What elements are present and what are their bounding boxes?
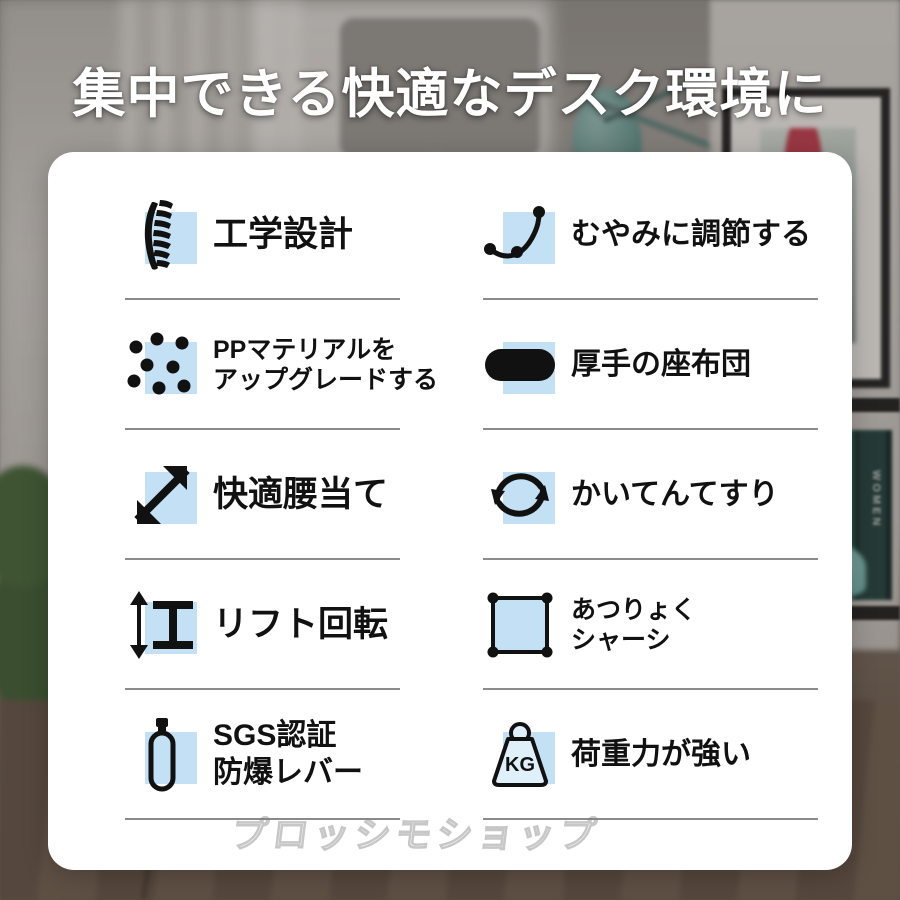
feature-label: あつりょく シャーシ [571,595,696,656]
feature-label: リフト回転 [213,604,388,647]
feature-item-pp-material[interactable]: PPマテリアルを アップグレードする [48,300,450,430]
rotate-icon [483,458,557,532]
feature-label-line-1: あつりょく [571,595,696,626]
chassis-frame-icon [483,588,557,662]
feature-label: かいてんてすり [571,477,779,514]
feature-item-swivel[interactable]: かいてんてすり [450,430,852,560]
feature-label-line-2: シャーシ [571,625,696,656]
feature-label-line-2: 防爆レバー [213,755,363,792]
feature-label: 快適腰当て [213,474,388,517]
feature-label-line-1: SGS認証 [213,718,363,755]
feature-label: 厚手の座布団 [571,347,751,384]
feature-row: 快適腰当て かいてんてすり [48,430,852,560]
feature-row: リフト回転 [48,560,852,690]
row-divider [483,818,818,820]
feature-label: むやみに調節する [571,217,811,254]
feature-label-line-1: PPマテリアルを [213,335,438,366]
expand-arrows-icon [125,458,199,532]
feature-item-lumbar-support[interactable]: 快適腰当て [48,430,450,560]
lift-height-icon [125,588,199,662]
feature-item-lift-rotate[interactable]: リフト回転 [48,560,450,690]
feature-item-sgs-certified[interactable]: SGS認証 防爆レバー [48,690,450,820]
feature-item-adjust[interactable]: むやみに調節する [450,170,852,300]
feature-label: PPマテリアルを アップグレードする [213,335,438,396]
pp-particles-icon [125,328,199,402]
page-title: 集中できる快適なデスク環境に [0,52,900,128]
feature-row: PPマテリアルを アップグレードする 厚手の座布団 [48,300,852,430]
feature-card: 工学設計 むやみに調節する [48,152,852,870]
kg-weight-icon: KG [483,718,557,792]
feature-label-line-2: アップグレードする [213,365,438,396]
feature-item-pressure-chassis[interactable]: あつりょく シャーシ [450,560,852,690]
feature-grid: 工学設計 むやみに調節する [48,170,852,870]
row-divider [125,818,400,820]
spine-icon [125,198,199,272]
feature-item-thick-cushion[interactable]: 厚手の座布団 [450,300,852,430]
adjust-curve-icon [483,198,557,272]
feature-row: 工学設計 むやみに調節する [48,170,852,300]
feature-label: 荷重力が強い [571,737,751,774]
feature-item-load-capacity[interactable]: KG 荷重力が強い [450,690,852,820]
feature-label: 工学設計 [213,214,353,257]
feature-label: SGS認証 防爆レバー [213,718,363,791]
cushion-pill-icon [483,328,557,402]
feature-row: SGS認証 防爆レバー KG 荷重力が強い [48,690,852,820]
feature-item-engineering-design[interactable]: 工学設計 [48,170,450,300]
gas-cylinder-icon [125,718,199,792]
kg-badge-text: KG [505,754,535,776]
